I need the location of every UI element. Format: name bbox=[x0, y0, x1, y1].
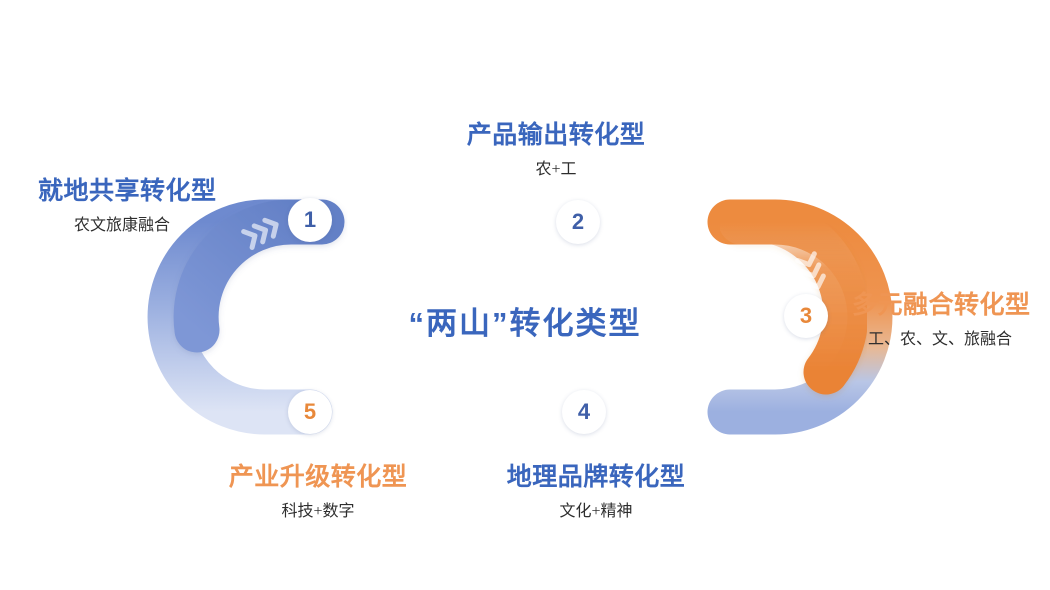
node-label-2-subtitle: 农+工 bbox=[406, 159, 706, 181]
step-badge-4-number: 4 bbox=[578, 401, 590, 423]
step-badge-2[interactable]: 2 bbox=[556, 200, 600, 244]
step-badge-5[interactable]: 5 bbox=[288, 390, 332, 434]
node-label-5-subtitle: 科技+数字 bbox=[168, 501, 468, 523]
step-badge-5-number: 5 bbox=[304, 401, 316, 423]
step-badge-2-number: 2 bbox=[572, 211, 584, 233]
node-label-2-title: 产品输出转化型 bbox=[406, 120, 706, 151]
node-label-1-title: 就地共享转化型 bbox=[38, 176, 217, 207]
step-badge-4[interactable]: 4 bbox=[562, 390, 606, 434]
node-label-4-title: 地理品牌转化型 bbox=[446, 462, 746, 493]
node-label-3-title: 多元融合转化型 bbox=[852, 290, 1031, 321]
step-badge-1-number: 1 bbox=[304, 209, 316, 231]
node-label-1[interactable]: 就地共享转化型 农文旅康融合 bbox=[38, 176, 217, 237]
step-badge-1[interactable]: 1 bbox=[288, 198, 332, 242]
node-label-5-title: 产业升级转化型 bbox=[168, 462, 468, 493]
node-label-4-subtitle: 文化+精神 bbox=[446, 501, 746, 523]
node-label-3-subtitle: 工、农、文、旅融合 bbox=[852, 329, 1031, 351]
node-label-2[interactable]: 产品输出转化型 农+工 bbox=[406, 120, 706, 181]
node-label-4[interactable]: 地理品牌转化型 文化+精神 bbox=[446, 462, 746, 523]
node-label-3[interactable]: 多元融合转化型 工、农、文、旅融合 bbox=[852, 290, 1031, 351]
node-label-1-subtitle: 农文旅康融合 bbox=[38, 215, 217, 237]
infographic-canvas: 1 2 3 4 5 “两山”转化类型 就地共享转化型 农文旅康融合 产品输出转化… bbox=[0, 0, 1050, 590]
node-label-5[interactable]: 产业升级转化型 科技+数字 bbox=[168, 462, 468, 523]
